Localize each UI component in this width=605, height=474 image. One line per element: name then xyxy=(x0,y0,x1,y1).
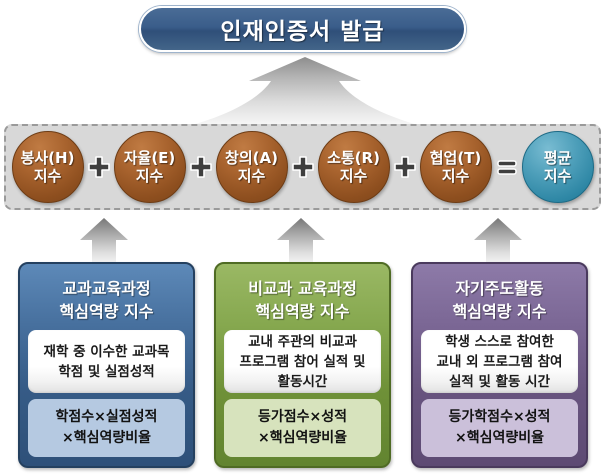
page-title: 인재인증서 발급 xyxy=(220,12,384,46)
card-body: 교내 주관의 비교과 프로그램 참어 실적 및 활동시간 xyxy=(224,330,381,393)
card-up-arrow-icon-3 xyxy=(470,216,526,264)
index-circle-label-line1: 봉사(H) xyxy=(21,149,75,167)
index-circle-hyeobeop[interactable]: 협업(T) 지수 xyxy=(420,131,492,203)
plus-icon-1 xyxy=(84,154,114,180)
card-header: 교과교육과정 핵심역량 지수 xyxy=(28,272,185,328)
card-extracurricular[interactable]: 비교과 교육과정 핵심역량 지수 교내 주관의 비교과 프로그램 참어 실적 및… xyxy=(214,262,391,468)
index-circle-label-line2: 지수 xyxy=(34,167,62,185)
card-body: 학생 스스로 참여한 교내 외 프로그램 참여 실적 및 활동 시간 xyxy=(421,330,578,393)
card-formula: 학점수×실점성적 ×핵심역량비율 xyxy=(28,399,185,457)
card-up-arrow-icon-1 xyxy=(76,216,132,264)
index-circle-label-line1: 창의(A) xyxy=(225,149,278,167)
card-body-line1: 교내 주관의 비교과 xyxy=(248,332,357,352)
certificate-title-pill: 인재인증서 발급 xyxy=(139,6,466,52)
card-header-line2: 핵심역량 지수 xyxy=(453,300,547,323)
index-circle-label-line2: 지수 xyxy=(238,167,266,185)
card-formula-line1: 등가학점수×성적 xyxy=(449,407,551,428)
index-formula-row: 봉사(H) 지수 자율(E) 지수 창의(A) 지수 소통 xyxy=(6,126,599,208)
index-formula-band: 봉사(H) 지수 자율(E) 지수 창의(A) 지수 소통 xyxy=(4,124,601,210)
card-formula-line2: ×핵심역량비율 xyxy=(258,428,347,449)
card-formula: 등가학점수×성적 ×핵심역량비율 xyxy=(421,399,578,457)
card-curricular[interactable]: 교과교육과정 핵심역량 지수 재학 중 이수한 교과목 학점 및 실점성적 학점… xyxy=(18,262,195,468)
average-circle-label-line2: 지수 xyxy=(544,167,572,185)
index-circle-bongsa[interactable]: 봉사(H) 지수 xyxy=(12,131,84,203)
index-circle-label-line1: 소통(R) xyxy=(327,149,380,167)
card-header: 자기주도활동 핵심역량 지수 xyxy=(421,272,578,328)
card-header-line1: 자기주도활동 xyxy=(455,277,543,300)
equals-icon xyxy=(492,154,522,180)
index-circle-changui[interactable]: 창의(A) 지수 xyxy=(216,131,288,203)
index-circle-label-line1: 자율(E) xyxy=(124,149,176,167)
card-body-line1: 재학 중 이수한 교과목 xyxy=(44,342,170,362)
index-circle-label-line1: 협업(T) xyxy=(430,149,482,167)
card-body-line2: 교내 외 프로그램 참여 xyxy=(437,352,563,372)
average-circle-label-line1: 평균 xyxy=(544,149,572,167)
card-body-line2: 학점 및 실점성적 xyxy=(58,362,154,382)
plus-icon-4 xyxy=(390,154,420,180)
card-header-line2: 핵심역량 지수 xyxy=(256,300,350,323)
card-formula-line2: ×핵심역량비율 xyxy=(455,428,544,449)
card-up-arrow-icon-2 xyxy=(273,216,329,264)
card-formula-line1: 등가점수×성적 xyxy=(258,407,347,428)
card-header-line2: 핵심역량 지수 xyxy=(60,300,154,323)
card-self-directed[interactable]: 자기주도활동 핵심역량 지수 학생 스스로 참여한 교내 외 프로그램 참여 실… xyxy=(411,262,588,468)
card-header-line1: 교과교육과정 xyxy=(62,277,150,300)
card-formula: 등가점수×성적 ×핵심역량비율 xyxy=(224,399,381,457)
card-body-line2: 프로그램 참어 실적 및 xyxy=(240,352,366,372)
card-header-line1: 비교과 교육과정 xyxy=(248,277,357,300)
index-circle-label-line2: 지수 xyxy=(442,167,470,185)
index-circle-jayul[interactable]: 자율(E) 지수 xyxy=(114,131,186,203)
card-formula-line1: 학점수×실점성적 xyxy=(56,407,158,428)
index-circle-label-line2: 지수 xyxy=(340,167,368,185)
index-circle-average[interactable]: 평균 지수 xyxy=(522,131,594,203)
index-circle-label-line2: 지수 xyxy=(136,167,164,185)
plus-icon-2 xyxy=(186,154,216,180)
index-circle-sotong[interactable]: 소통(R) 지수 xyxy=(318,131,390,203)
card-body-line1: 학생 스스로 참여한 xyxy=(445,332,554,352)
plus-icon-3 xyxy=(288,154,318,180)
card-header: 비교과 교육과정 핵심역량 지수 xyxy=(224,272,381,328)
card-formula-line2: ×핵심역량비율 xyxy=(62,428,151,449)
card-body-line3: 실적 및 활동 시간 xyxy=(449,372,550,392)
card-body: 재학 중 이수한 교과목 학점 및 실점성적 xyxy=(28,330,185,393)
card-body-line3: 활동시간 xyxy=(278,372,328,392)
main-up-arrow-icon xyxy=(175,55,435,133)
